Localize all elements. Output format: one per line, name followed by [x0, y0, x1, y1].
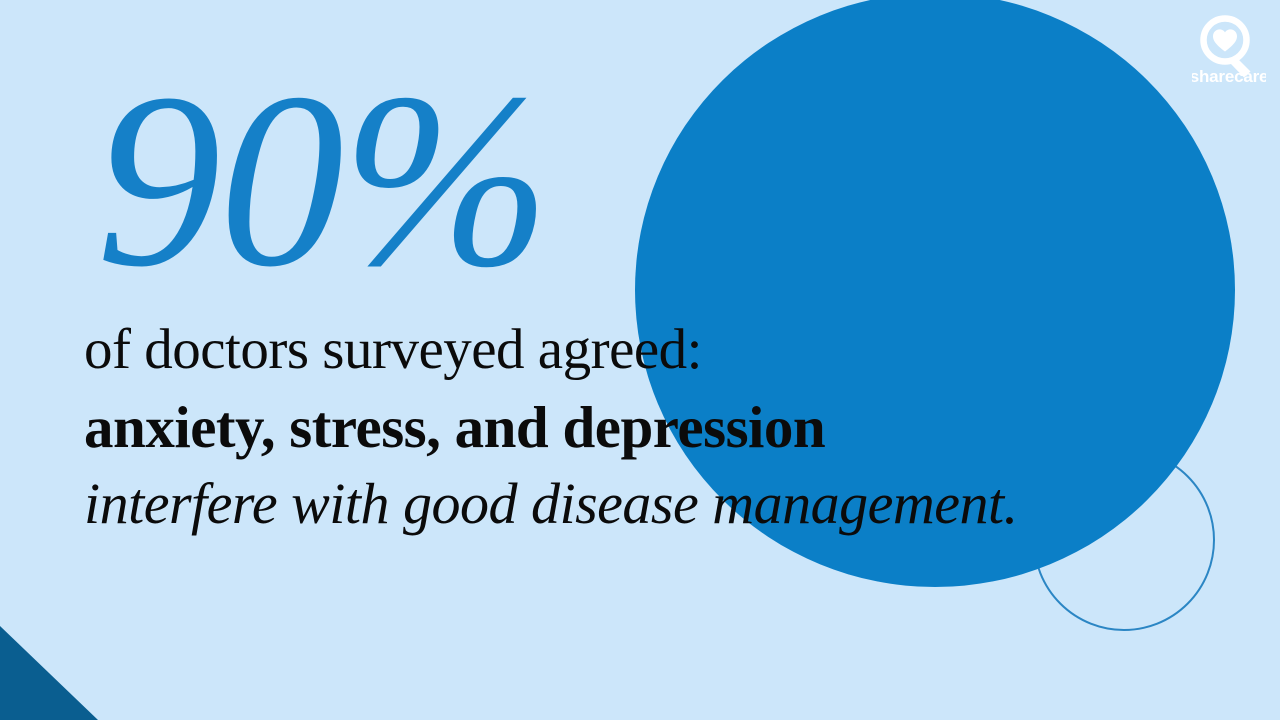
sharecare-wordmark: sharecare: [1192, 67, 1266, 86]
slide-canvas: 90% of doctors surveyed agreed: anxiety,…: [0, 0, 1280, 720]
sharecare-logo: sharecare: [1192, 14, 1266, 86]
big-blue-circle-decor: [635, 0, 1235, 587]
background-shapes: [0, 0, 1280, 720]
